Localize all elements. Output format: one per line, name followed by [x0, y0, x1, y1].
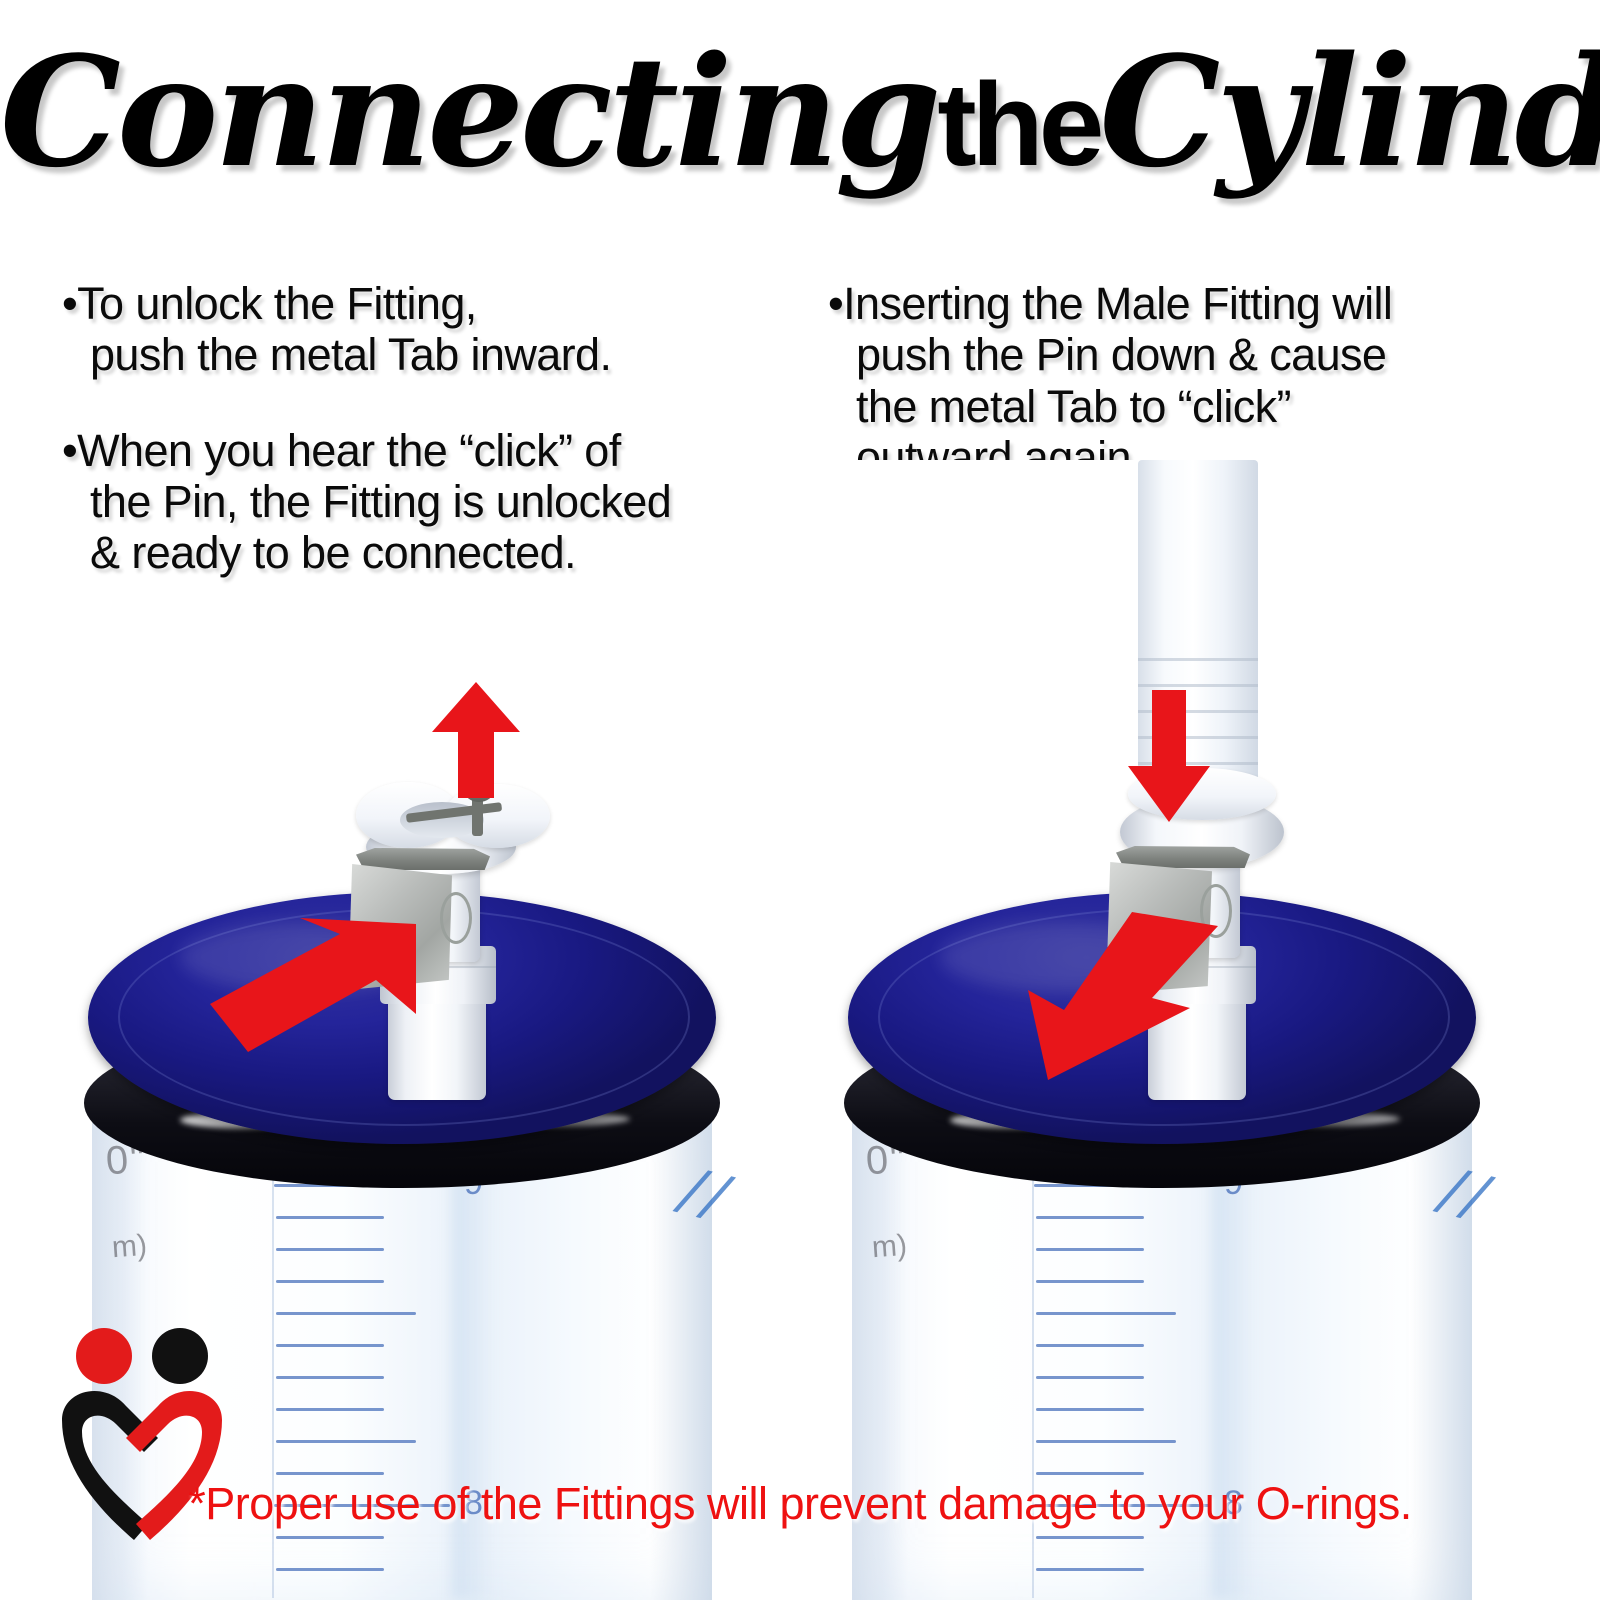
title-part-connecting: Connecting	[0, 22, 937, 201]
graduation-mark	[1036, 1440, 1176, 1443]
bullet-line: To unlock the Fitting,	[77, 278, 477, 329]
bullet-line: & ready to be connected.	[62, 527, 802, 578]
graduation-mark	[1036, 1536, 1144, 1539]
tab-inward-arrow	[190, 918, 420, 1058]
graduation-mark	[1036, 1312, 1176, 1315]
title-part-the: the	[937, 59, 1099, 191]
metal-tab-top-left	[356, 848, 490, 870]
graduation-mark	[1036, 1408, 1144, 1411]
photo-locked-fitting: 0" m) ╱╱ 9 8	[800, 460, 1560, 1600]
insert-down-arrow	[1126, 688, 1212, 824]
list-item: •To unlock the Fitting, push the metal T…	[62, 278, 802, 381]
graduation-mark	[276, 1376, 384, 1379]
bullet-line: Inserting the Male Fitting will	[843, 278, 1392, 329]
bullet-line: the metal Tab to “click”	[828, 381, 1588, 432]
bullet-line: push the Pin down & cause	[828, 329, 1588, 380]
graduation-mark	[276, 1344, 384, 1347]
graduation-mark	[1036, 1344, 1144, 1347]
bullet-marker: •	[62, 278, 77, 329]
bullet-marker: •	[828, 278, 843, 329]
graduation-mark	[1036, 1216, 1144, 1219]
bullet-line: When you hear the “click” of	[77, 425, 620, 476]
graduation-mark	[276, 1472, 384, 1475]
cylinder-label-sub-right: m)	[871, 1229, 908, 1265]
graduation-spine-right	[1032, 1178, 1034, 1598]
logo-head-red	[76, 1328, 132, 1384]
tab-wire-loop-left	[440, 892, 472, 944]
graduation-mark	[1036, 1568, 1144, 1571]
tube-rib	[1138, 658, 1258, 661]
list-item: •Inserting the Male Fitting will push th…	[828, 278, 1588, 483]
pin-up-arrow	[430, 680, 522, 800]
graduation-mark	[276, 1568, 384, 1571]
infographic-page: ConnectingtheCylinder •To unlock the Fit…	[0, 0, 1600, 1600]
graduation-mark	[276, 1248, 384, 1251]
graduation-mark	[276, 1280, 384, 1283]
tube-rib	[1138, 684, 1258, 687]
left-instructions-column: •To unlock the Fitting, push the metal T…	[62, 278, 802, 578]
cylinder-label-sub-left: m)	[111, 1229, 148, 1265]
graduation-mark	[276, 1536, 384, 1539]
bullet-line: the Pin, the Fitting is unlocked	[62, 476, 802, 527]
graduation-spine-left	[272, 1178, 274, 1598]
graduation-mark	[276, 1408, 384, 1411]
graduation-mark	[1036, 1280, 1144, 1283]
graduation-mark	[276, 1216, 384, 1219]
page-title: ConnectingtheCylinder	[0, 36, 1600, 236]
list-item: •When you hear the “click” of the Pin, t…	[62, 425, 802, 579]
graduation-mark	[276, 1312, 416, 1315]
title-part-cylinder: Cylinder	[1099, 22, 1600, 201]
tab-outward-arrow	[952, 912, 1222, 1084]
graduation-mark	[276, 1440, 416, 1443]
graduation-mark	[1036, 1376, 1144, 1379]
footer-note: *Proper use of the Fittings will prevent…	[0, 1478, 1600, 1530]
graduation-mark	[1036, 1472, 1144, 1475]
graduation-mark	[1036, 1248, 1144, 1251]
logo-head-black	[152, 1328, 208, 1384]
bullet-marker: •	[62, 425, 77, 476]
bullet-line: push the metal Tab inward.	[62, 329, 802, 380]
